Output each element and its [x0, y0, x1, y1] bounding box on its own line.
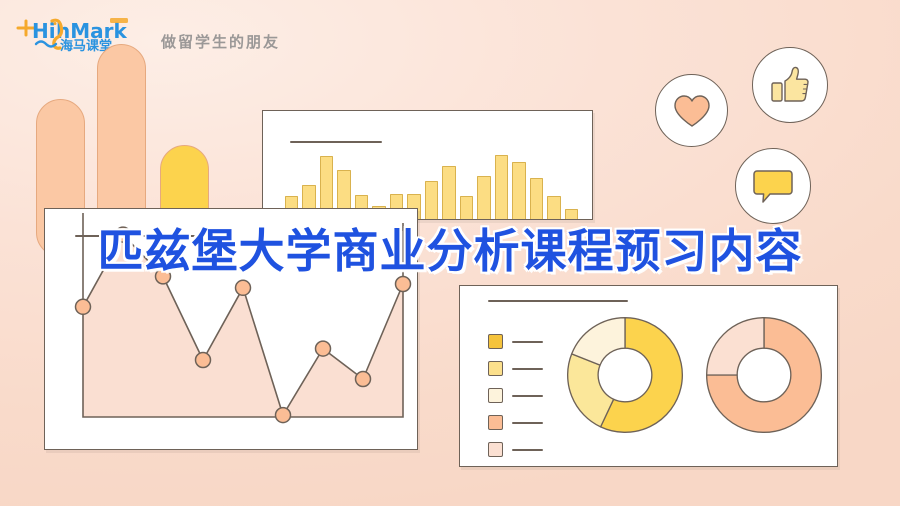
legend-item-1[interactable]: [488, 334, 543, 349]
thumbs-up-reaction-bubble[interactable]: [752, 47, 828, 123]
bar-17: [565, 209, 578, 219]
bar-11: [460, 196, 473, 219]
bar-15: [530, 178, 543, 219]
line-chart-marker-4: [196, 353, 211, 368]
brand-tagline: 做留学生的朋友: [161, 31, 280, 52]
svg-text:Hi: Hi: [32, 19, 56, 43]
bar-10: [442, 166, 455, 219]
legend-item-2[interactable]: [488, 361, 543, 376]
speech-bubble-icon: [752, 167, 794, 205]
donut-chart-left: [564, 314, 686, 436]
donut-chart-right: [703, 314, 825, 436]
bar-13: [495, 155, 508, 219]
poster-canvas: Hi hMark 海马课堂 做留学生的朋友: [0, 0, 900, 506]
legend-item-4[interactable]: [488, 415, 543, 430]
bar-14: [512, 162, 525, 219]
line-chart-marker-1: [76, 299, 91, 314]
bar-9: [425, 181, 438, 219]
thumbs-up-icon: [769, 65, 811, 105]
legend-item-5[interactable]: [488, 442, 543, 457]
legend-item-3[interactable]: [488, 388, 543, 403]
donut-chart-right-slice-2: [707, 318, 764, 375]
page-title: 匹兹堡大学商业分析课程预习内容: [0, 222, 900, 280]
card-title-placeholder-rule: [290, 141, 382, 143]
legend-label-placeholder-3: [512, 395, 543, 397]
donut-chart-legend: [488, 334, 543, 457]
line-chart-marker-8: [356, 372, 371, 387]
legend-swatch-4: [488, 415, 503, 430]
heart-icon: [673, 94, 711, 128]
bar-12: [477, 176, 490, 219]
bar-16: [547, 196, 560, 219]
legend-label-placeholder-4: [512, 422, 543, 424]
line-chart-marker-5: [236, 280, 251, 295]
line-chart-marker-6: [276, 408, 291, 423]
legend-label-placeholder-5: [512, 449, 543, 451]
comment-reaction-bubble[interactable]: [735, 148, 811, 224]
legend-swatch-3: [488, 388, 503, 403]
legend-label-placeholder-1: [512, 341, 543, 343]
line-chart-marker-7: [316, 341, 331, 356]
legend-label-placeholder-2: [512, 368, 543, 370]
donut-chart-card: [459, 285, 838, 467]
brand-logo: Hi hMark 海马课堂 做留学生的朋友: [14, 12, 284, 56]
legend-swatch-2: [488, 361, 503, 376]
legend-swatch-5: [488, 442, 503, 457]
card-title-placeholder-rule: [488, 300, 628, 302]
bar-chart-card: [262, 110, 593, 220]
legend-swatch-1: [488, 334, 503, 349]
heart-reaction-bubble[interactable]: [655, 74, 728, 147]
